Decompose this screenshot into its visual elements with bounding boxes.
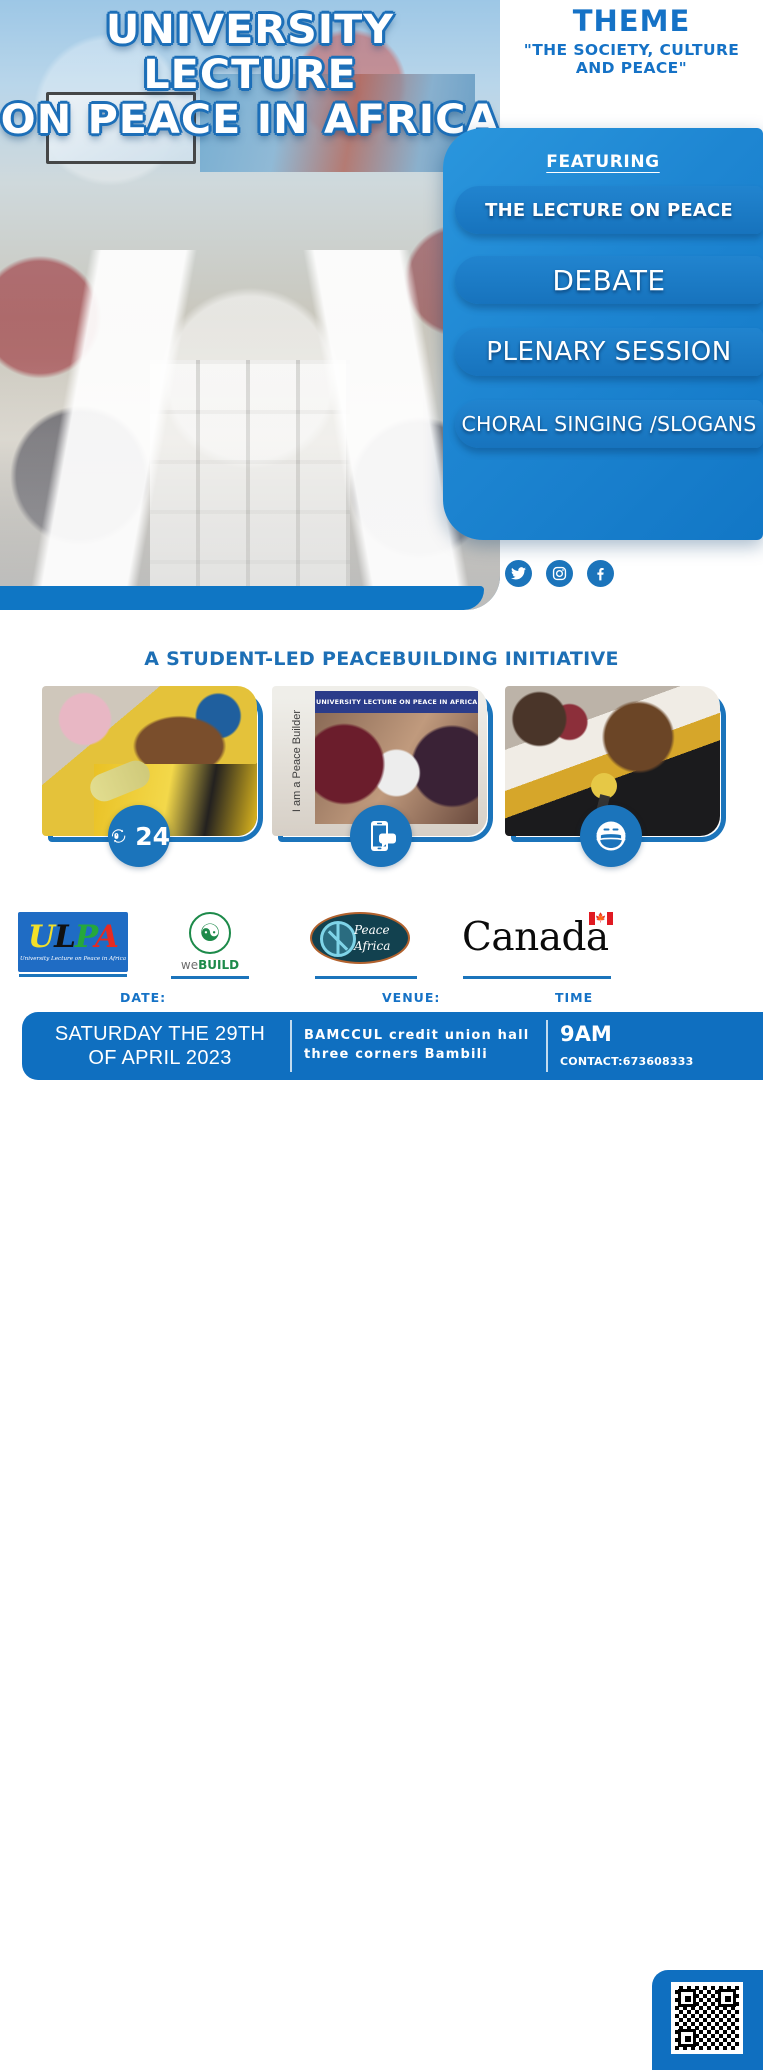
featuring-item-label: THE LECTURE ON PEACE (479, 200, 739, 221)
featuring-list: THE LECTURE ON PEACE DEBATE PLENARY SESS… (443, 186, 763, 448)
badge-phone-chat (350, 805, 412, 867)
peace-africa-emblem: Peace Africa (310, 912, 410, 964)
card-vertical-caption: I am a Peace Builder (281, 701, 313, 821)
theme-label: THEME (500, 6, 763, 38)
peace-africa-wordmark: Peace Africa (354, 922, 390, 954)
event-details-footer: DATE: VENUE: TIME SATURDAY THE 29TH OF A… (0, 990, 763, 1080)
footer-venue-line1: BAMCCUL credit union hall (304, 1028, 529, 1043)
instagram-icon[interactable] (546, 560, 573, 587)
featuring-heading-text: FEATURING (546, 152, 659, 172)
webuild-emblem-icon: ☯ (189, 912, 231, 954)
footer-date-line1: SATURDAY THE 29TH (55, 1023, 265, 1045)
photo-gallery: UNIVERSITY LECTURE ON PEACE IN AFRICA I … (0, 686, 763, 886)
canada-wordmark: Canada (462, 912, 609, 957)
footer-venue-text: BAMCCUL credit union hall three corners … (304, 1027, 529, 1065)
footer-divider (546, 1020, 548, 1072)
featuring-item-label: CHORAL SINGING /SLOGANS (456, 412, 763, 436)
footer-contact-text: CONTACT:673608333 (560, 1055, 720, 1068)
featuring-item-choral: CHORAL SINGING /SLOGANS (455, 400, 763, 448)
ulpa-wordmark: ULPA (28, 922, 118, 953)
ulpa-letter-l: L (54, 919, 75, 955)
featuring-heading: FEATURING (443, 128, 763, 172)
label-date: DATE: (120, 990, 166, 1005)
footer-time-text: 9AM (560, 1022, 720, 1046)
footer-divider (290, 1020, 292, 1072)
flag-maple-leaf (595, 912, 607, 925)
face-mask-icon (589, 814, 633, 858)
ulpa-letter-p: P (75, 919, 95, 955)
footer-venue-line2: three corners Bambili (304, 1047, 488, 1062)
label-time: TIME (555, 990, 593, 1005)
label-venue: VENUE: (382, 990, 440, 1005)
hero-accent-bar (0, 586, 484, 610)
featuring-item-label: PLENARY SESSION (480, 337, 737, 367)
footer-time-cell: 9AM CONTACT:673608333 (560, 1012, 720, 1080)
ulpa-tagline: University Lecture on Peace in Africa (20, 956, 126, 962)
qr-finder-top-left (678, 1989, 696, 2007)
webuild-text-we: we (181, 958, 198, 972)
conference-tables (0, 250, 500, 610)
ulpa-letter-a: A (95, 919, 118, 955)
qr-finder-top-right (718, 1989, 736, 2007)
canadian-flag-icon (589, 912, 613, 925)
qr-code[interactable] (671, 1982, 743, 2054)
footer-date-line2: OF APRIL 2023 (88, 1047, 231, 1069)
facebook-icon[interactable] (587, 560, 614, 587)
footer-date-text: SATURDAY THE 29TH OF APRIL 2023 (40, 1022, 280, 1070)
footer-bar: SATURDAY THE 29TH OF APRIL 2023 BAMCCUL … (22, 1012, 763, 1080)
featuring-item-lecture: THE LECTURE ON PEACE (455, 186, 763, 234)
logo-canada: Canada (462, 912, 612, 974)
featuring-item-debate: DEBATE (455, 256, 763, 304)
poster-title-line2: ON PEACE IN AFRICA (0, 98, 503, 143)
peace-africa-line1: Peace (354, 922, 390, 938)
qr-panel (652, 1970, 763, 2070)
badge-face-mask (580, 805, 642, 867)
theme-text-line1: "THE SOCIETY, CULTURE (500, 41, 763, 59)
photo-group (315, 713, 478, 824)
logo-ulpa: ULPA University Lecture on Peace in Afri… (18, 912, 128, 972)
featuring-panel: FEATURING THE LECTURE ON PEACE DEBATE PL… (443, 128, 763, 540)
person-figure-icon: ☯ (199, 921, 221, 945)
card-caption-text: I am a Peace Builder (291, 710, 303, 812)
featuring-item-label: DEBATE (546, 264, 671, 297)
badge-24-hours: 24 (108, 805, 170, 867)
footer-venue-cell: BAMCCUL credit union hall three corners … (304, 1012, 540, 1080)
microphone (591, 773, 617, 799)
featuring-item-plenary: PLENARY SESSION (455, 328, 763, 376)
social-links (505, 560, 625, 588)
qr-finder-bottom-left (678, 2029, 696, 2047)
webuild-wordmark: weBUILD (170, 958, 250, 972)
canada-text: Canada (462, 915, 609, 960)
sponsor-logos: ULPA University Lecture on Peace in Afri… (0, 912, 763, 990)
footer-labels: DATE: VENUE: TIME (0, 990, 763, 1012)
poster-title-line1: UNIVERSITY LECTURE (0, 8, 503, 98)
twitter-icon[interactable] (505, 560, 532, 587)
badge-number: 24 (135, 824, 170, 849)
theme-text-line2: AND PEACE" (500, 59, 763, 77)
sponsor-underline (19, 974, 127, 977)
peace-symbol-icon (320, 921, 356, 957)
flag-bar-right (607, 912, 613, 925)
sponsor-underline (171, 976, 249, 979)
footer-date-cell: SATURDAY THE 29TH OF APRIL 2023 (40, 1012, 280, 1080)
theme-block: THEME "THE SOCIETY, CULTURE AND PEACE" (500, 6, 763, 77)
phone-chat-icon (361, 816, 401, 856)
sponsor-underline (315, 976, 417, 979)
photo-inner-banner: UNIVERSITY LECTURE ON PEACE IN AFRICA (315, 691, 478, 714)
peace-africa-line2: Africa (354, 938, 390, 954)
mouse-24-cycle-icon (108, 812, 129, 860)
ulpa-letter-u: U (28, 919, 54, 955)
webuild-text-build: BUILD (198, 958, 239, 972)
tagline: A STUDENT-LED PEACEBUILDING INITIATIVE (0, 648, 763, 670)
sponsor-underline (463, 976, 611, 979)
poster-title: UNIVERSITY LECTURE ON PEACE IN AFRICA (0, 8, 500, 142)
logo-webuild: ☯ weBUILD (170, 912, 250, 974)
logo-peace-africa: Peace Africa (310, 912, 422, 974)
